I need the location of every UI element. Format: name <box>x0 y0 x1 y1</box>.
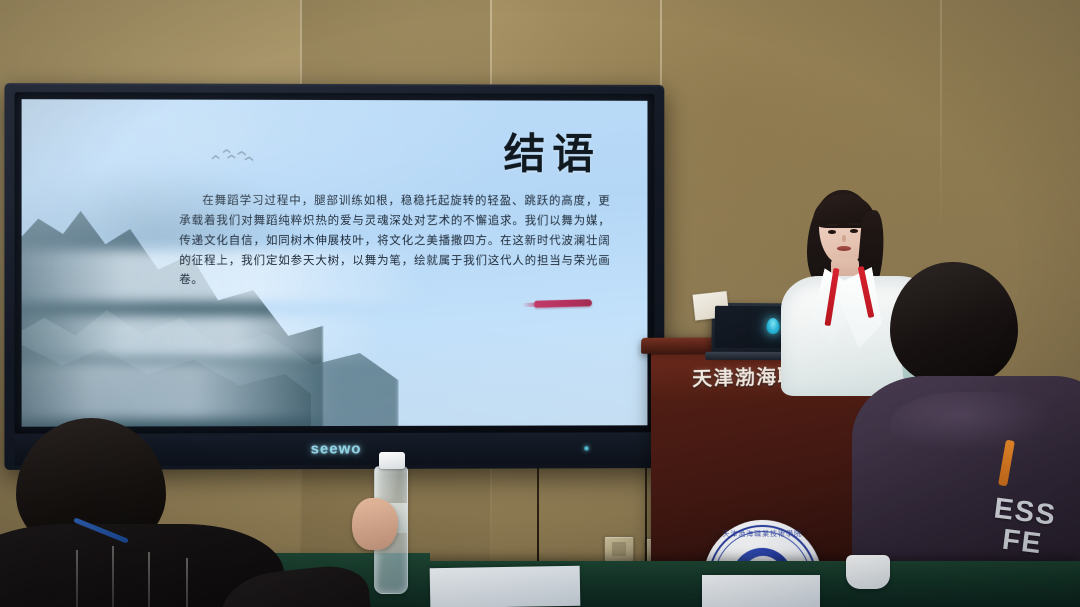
presenter-eye <box>850 229 858 233</box>
audience-right-head <box>890 262 1018 384</box>
audience-right-highlight <box>890 392 1070 472</box>
display-screen[interactable]: 结语 在舞蹈学习过程中，腿部训练如根，稳稳托起旋转的轻盈、跳跃的高度，更承载着我… <box>22 99 648 427</box>
bottle-cap <box>379 452 405 469</box>
slide-mist <box>22 361 336 420</box>
jacket-fringe <box>76 550 78 607</box>
wall-cable <box>645 466 647 570</box>
jacket-fringe <box>112 546 114 607</box>
presenter-eye <box>828 230 836 234</box>
audience-left-hand <box>352 498 398 550</box>
jacket-print-text: ESS FE <box>989 494 1058 560</box>
presenter-eyebrow <box>849 223 860 225</box>
birds-icon <box>192 145 274 168</box>
wall-socket[interactable] <box>604 536 634 562</box>
presenter-mouth <box>837 246 851 251</box>
table-paper <box>430 566 581 607</box>
display-bezel: 结语 在舞蹈学习过程中，腿部训练如根，稳稳托起旋转的轻盈、跳跃的高度，更承载着我… <box>15 92 655 434</box>
table-paper <box>702 575 820 607</box>
slide-highlight-mark <box>534 300 592 309</box>
presentation-scene: 结语 在舞蹈学习过程中，腿部训练如根，稳稳托起旋转的轻盈、跳跃的高度，更承载着我… <box>0 0 1080 607</box>
audience-member-left <box>0 420 380 607</box>
audience-member-right: ESS FE <box>880 262 1080 607</box>
interactive-display[interactable]: 结语 在舞蹈学习过程中，腿部训练如根，稳稳托起旋转的轻盈、跳跃的高度，更承载着我… <box>4 83 664 470</box>
jacket-fringe <box>186 558 188 607</box>
slide-mist <box>22 315 386 358</box>
presenter-nose <box>842 235 846 242</box>
display-indicator-led <box>584 446 589 451</box>
emblem-chinese-text: 天津渤海職業技術學院 <box>723 529 802 539</box>
presenter-eyebrow <box>827 224 838 226</box>
slide-title: 结语 <box>504 120 601 181</box>
table-cup <box>846 555 890 589</box>
slide-body-text: 在舞蹈学习过程中，腿部训练如根，稳稳托起旋转的轻盈、跳跃的高度，更承载着我们对舞… <box>179 191 610 290</box>
jacket-fringe <box>148 552 150 607</box>
